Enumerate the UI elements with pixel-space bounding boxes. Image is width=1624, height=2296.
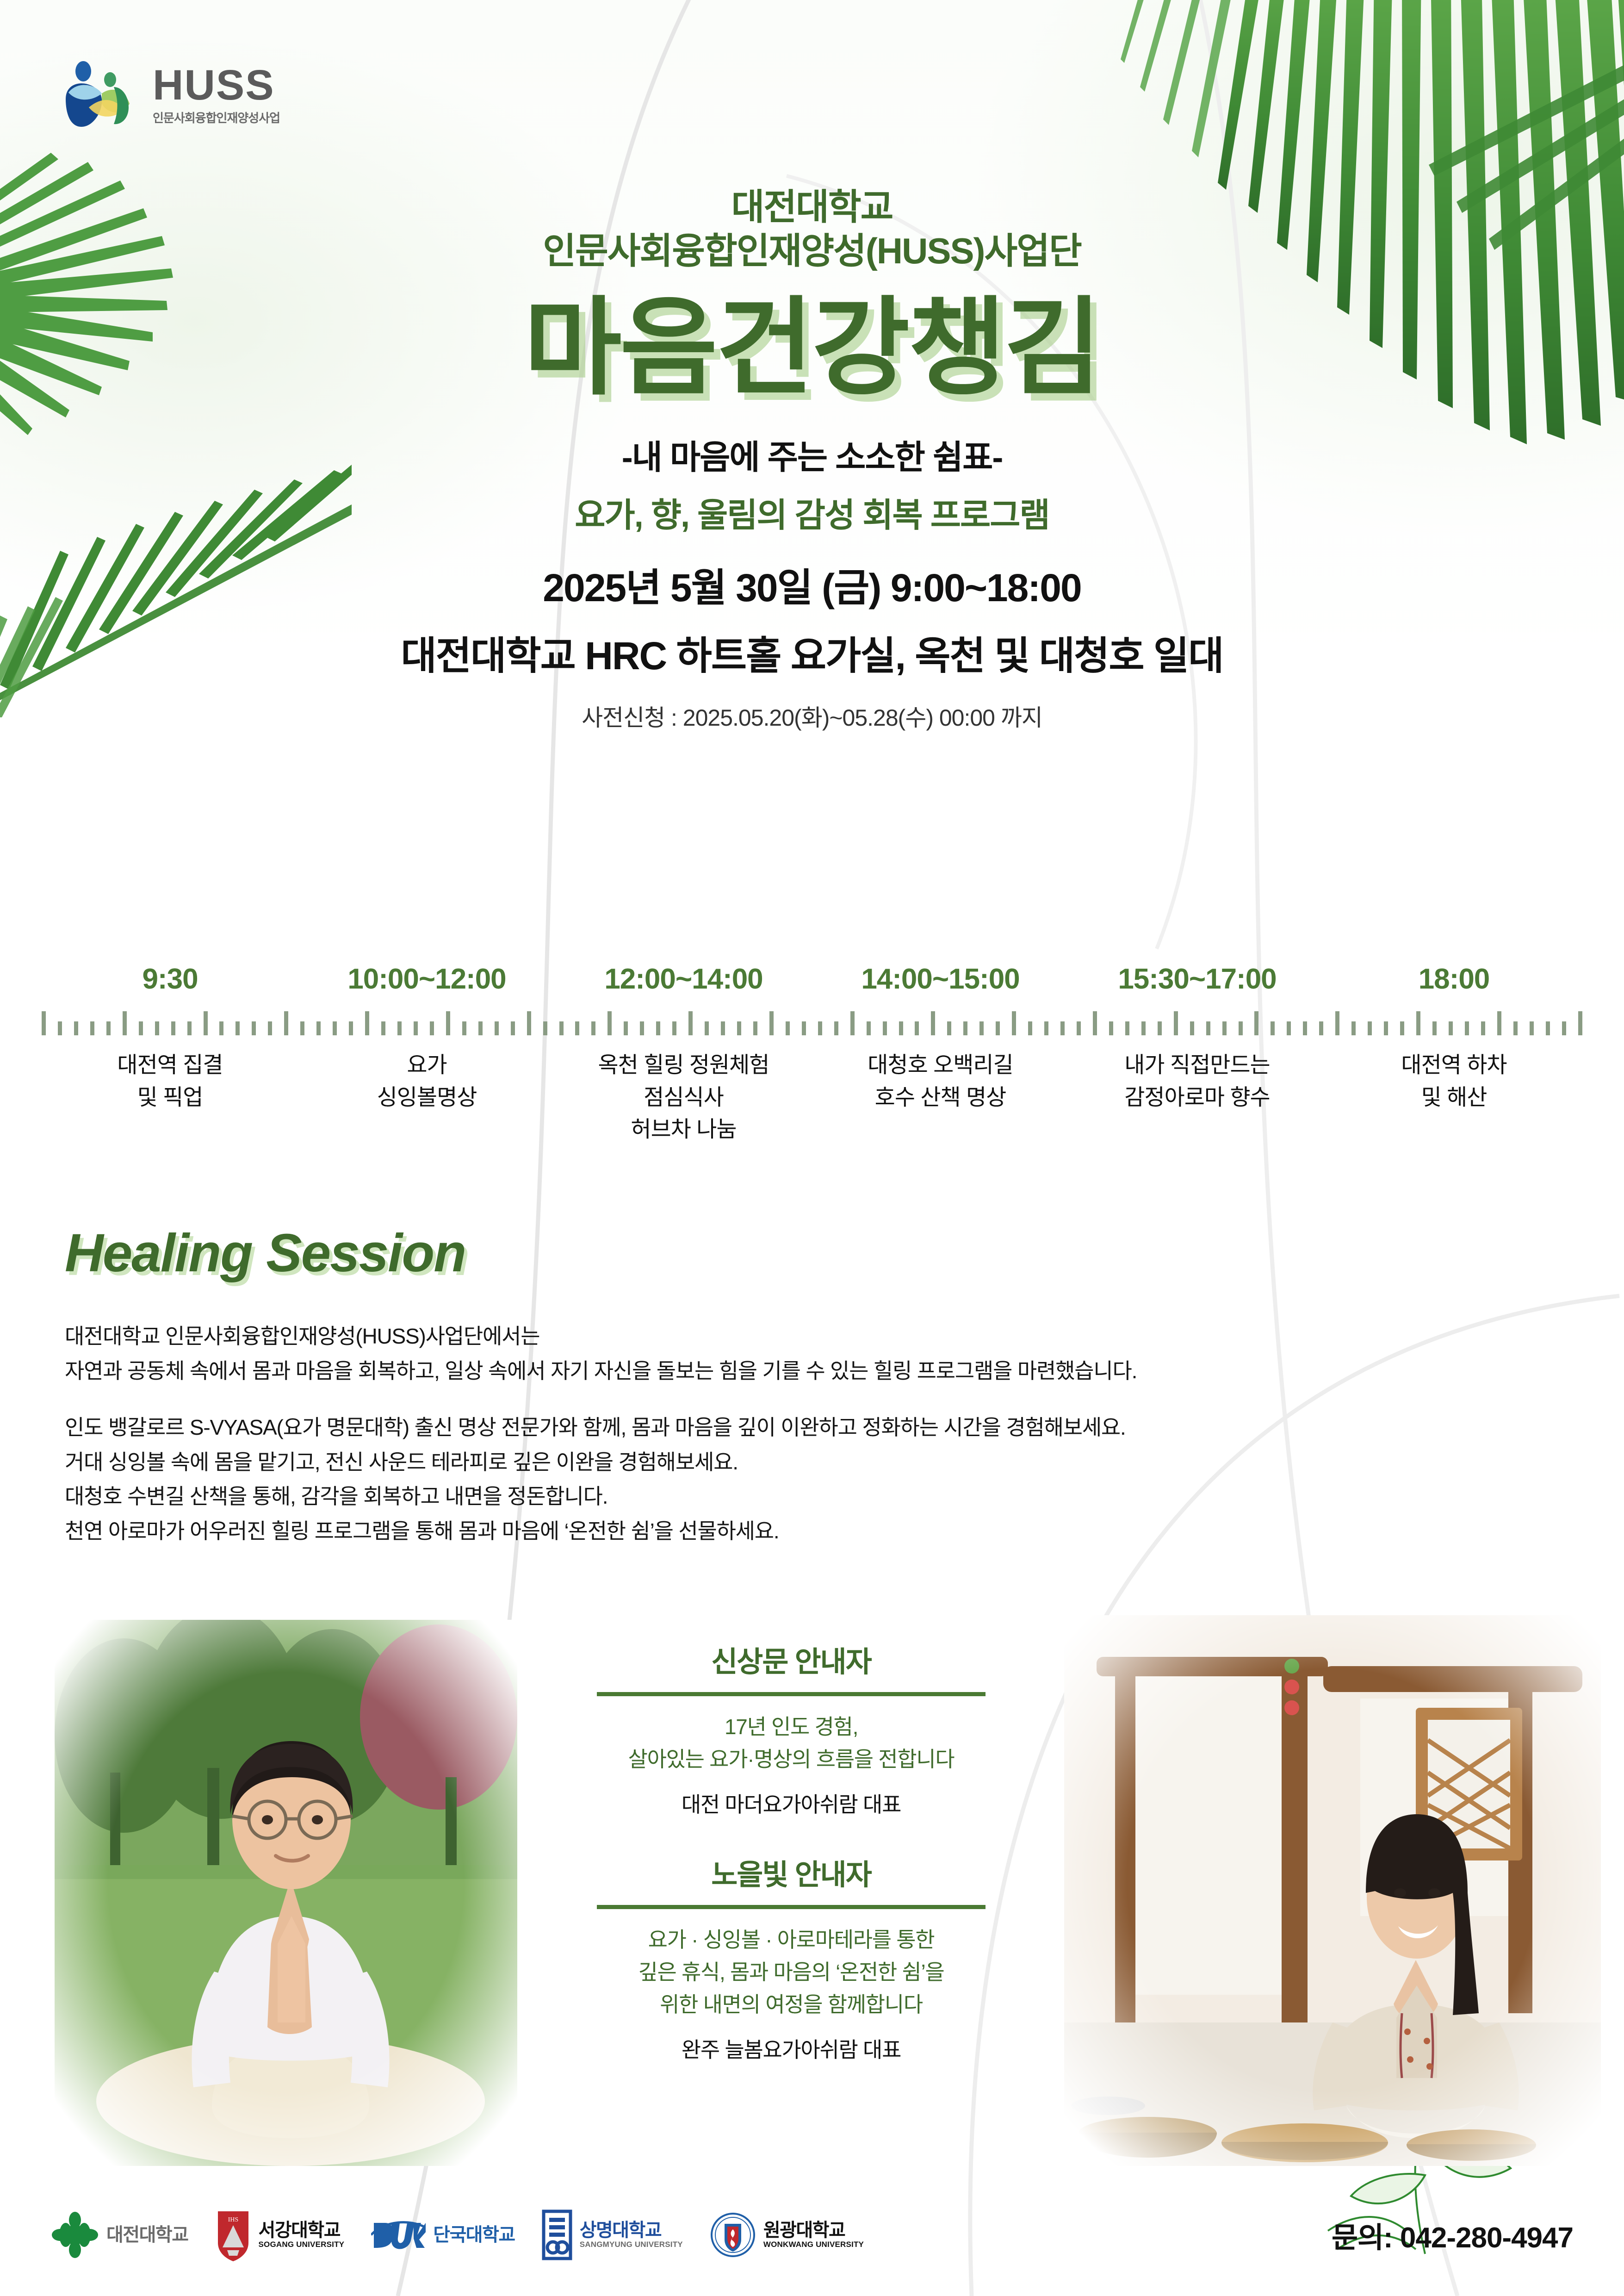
timeline-ruler: [42, 1011, 1582, 1035]
university-name-wonkwang-en: WONKWANG UNIVERSITY: [763, 2240, 864, 2249]
ruler-tick-minor: [1432, 1021, 1437, 1035]
ruler-tick-minor: [1239, 1021, 1243, 1035]
instructor-divider-1: [597, 1692, 986, 1696]
timeline-slot-1: 10:00~12:00: [298, 963, 555, 996]
ruler-tick-minor: [58, 1021, 62, 1035]
timeline-time-2: 12:00~14:00: [555, 963, 812, 996]
ruler-tick-minor: [1351, 1021, 1356, 1035]
ruler-tick-minor: [511, 1021, 515, 1035]
body-para1-line1: 대전대학교 인문사회융합인재양성(HUSS)사업단에서는: [65, 1319, 1568, 1354]
ruler-tick-minor: [74, 1021, 78, 1035]
timeline-slot-2: 12:00~14:00: [555, 963, 812, 996]
ruler-tick-minor: [867, 1021, 871, 1035]
partner-footer: 대전대학교 IHS 서강대학교 SOGANG UNIVERSITY 단국대학교: [51, 2208, 1573, 2262]
ruler-tick-minor: [268, 1021, 272, 1035]
event-datetime: 2025년 5월 30일 (금) 9:00~18:00: [0, 557, 1624, 613]
dankook-university-dku-icon: [371, 2216, 426, 2253]
ruler-tick-minor: [1125, 1021, 1129, 1035]
ruler-tick-minor: [219, 1021, 223, 1035]
ruler-tick-minor: [818, 1021, 822, 1035]
ruler-tick-minor: [1060, 1021, 1065, 1035]
logo-wordmark: HUSS: [153, 65, 280, 106]
ruler-tick-minor: [559, 1021, 564, 1035]
ruler-tick-minor: [947, 1021, 951, 1035]
timeline-activity-cell-3: 대청호 오백리길 호수 산책 명상: [812, 1049, 1069, 1146]
ruler-tick-minor: [721, 1021, 725, 1035]
ruler-tick-major: [1174, 1011, 1178, 1035]
ruler-tick-major: [1254, 1011, 1258, 1035]
timeline-activities-row: 대전역 집결 및 픽업 요가 싱잉볼명상 옥천 힐링 정원체험 점심식사 허브차…: [42, 1049, 1582, 1146]
daejeon-university-emblem-icon: [51, 2211, 99, 2259]
ruler-tick-minor: [1206, 1021, 1210, 1035]
university-name-wonkwang: 원광대학교: [763, 2221, 864, 2240]
ruler-tick-minor: [187, 1021, 192, 1035]
timeline-activity-5: 대전역 하차 및 해산: [1326, 1049, 1582, 1114]
university-name-daejeon: 대전대학교: [106, 2225, 188, 2245]
wonkwang-university-emblem-icon: [710, 2211, 756, 2259]
timeline-activity-3: 대청호 오백리길 호수 산책 명상: [812, 1049, 1069, 1114]
instructor-description-2: 요가 · 싱잉볼 · 아로마테라를 통한 깊은 휴식, 몸과 마음의 ‘온전한 …: [514, 1924, 1069, 2021]
university-logo-sogang: IHS 서강대학교 SOGANG UNIVERSITY: [215, 2208, 345, 2262]
ruler-tick-minor: [737, 1021, 741, 1035]
ruler-tick-minor: [963, 1021, 967, 1035]
ruler-tick-minor: [171, 1021, 175, 1035]
ruler-tick-minor: [1044, 1021, 1048, 1035]
sangmyung-name-group: 상명대학교 SANGMYUNG UNIVERSITY: [580, 2221, 683, 2249]
ruler-tick-minor: [90, 1021, 94, 1035]
ruler-tick-minor: [1513, 1021, 1518, 1035]
ruler-tick-minor: [834, 1021, 838, 1035]
ruler-tick-major: [123, 1011, 127, 1035]
ruler-tick-minor: [349, 1021, 353, 1035]
timeline-activity-4: 내가 직접만드는 감정아로마 향수: [1069, 1049, 1326, 1114]
sogang-university-shield-icon: IHS: [215, 2208, 251, 2262]
body-para2-line2: 거대 싱잉볼 속에 몸을 맡기고, 전신 사운드 테라피로 깊은 이완을 경험해…: [65, 1445, 1568, 1480]
ruler-tick-minor: [1530, 1021, 1534, 1035]
ruler-tick-minor: [1190, 1021, 1194, 1035]
ruler-tick-minor: [543, 1021, 547, 1035]
ruler-tick-minor: [300, 1021, 304, 1035]
timeline-slot-4: 15:30~17:00: [1069, 963, 1326, 996]
ruler-tick-minor: [1028, 1021, 1032, 1035]
ruler-tick-minor: [430, 1021, 434, 1035]
contact-phone: 문의: 042-280-4947: [1332, 2214, 1573, 2256]
ruler-tick-minor: [495, 1021, 499, 1035]
timeline-activity-cell-1: 요가 싱잉볼명상: [298, 1049, 555, 1146]
instructor-divider-2: [597, 1905, 986, 1909]
ruler-tick-minor: [397, 1021, 402, 1035]
timeline-slot-5: 18:00: [1326, 963, 1582, 996]
ruler-tick-minor: [252, 1021, 256, 1035]
logo-subtitle: 인문사회융합인재양성사업: [153, 109, 280, 126]
sangmyung-university-emblem-icon: [542, 2209, 572, 2260]
timeline-activity-cell-0: 대전역 집결 및 픽업: [42, 1049, 298, 1146]
ruler-tick-minor: [236, 1021, 240, 1035]
registration-period: 사전신청 : 2025.05.20(화)~05.28(수) 00:00 까지: [0, 699, 1624, 733]
ruler-tick-major: [1335, 1011, 1339, 1035]
timeline-activity-cell-5: 대전역 하차 및 해산: [1326, 1049, 1582, 1146]
healing-session-heading: Healing Session: [65, 1222, 465, 1284]
ruler-tick-major: [365, 1011, 369, 1035]
timeline-time-5: 18:00: [1326, 963, 1582, 996]
event-timeline: 9:30 10:00~12:00 12:00~14:00 14:00~15:00…: [42, 963, 1582, 1146]
instructor-photo-male-meditating: [55, 1620, 517, 2166]
university-name-sangmyung: 상명대학교: [580, 2221, 683, 2240]
ruler-tick-minor: [462, 1021, 466, 1035]
ruler-tick-minor: [106, 1021, 111, 1035]
timeline-time-0: 9:30: [42, 963, 298, 996]
ruler-tick-minor: [899, 1021, 903, 1035]
instructor-role-2: 완주 늘봄요가아쉬람 대표: [514, 2033, 1069, 2064]
ruler-tick-major: [1012, 1011, 1016, 1035]
svg-text:IHS: IHS: [228, 2216, 238, 2223]
ruler-tick-major: [204, 1011, 208, 1035]
university-logo-daejeon: 대전대학교: [51, 2211, 188, 2259]
ruler-tick-minor: [1271, 1021, 1275, 1035]
ruler-tick-minor: [705, 1021, 709, 1035]
ruler-tick-major: [850, 1011, 855, 1035]
page-title: 마음건강챙김: [0, 291, 1624, 405]
ruler-tick-major: [607, 1011, 612, 1035]
ruler-tick-minor: [883, 1021, 887, 1035]
ruler-tick-minor: [1562, 1021, 1566, 1035]
ruler-tick-major: [688, 1011, 693, 1035]
ruler-tick-major: [769, 1011, 774, 1035]
huss-logo: HUSS 인문사회융합인재양성사업: [59, 59, 280, 131]
ruler-tick-minor: [915, 1021, 919, 1035]
timeline-slot-3: 14:00~15:00: [812, 963, 1069, 996]
university-logo-wonkwang: 원광대학교 WONKWANG UNIVERSITY: [710, 2211, 864, 2259]
poster-header: 대전대학교 인문사회융합인재양성(HUSS)사업단 마음건강챙김 -내 마음에 …: [0, 185, 1624, 733]
ruler-tick-major: [1578, 1011, 1582, 1035]
university-name-sangmyung-en: SANGMYUNG UNIVERSITY: [580, 2240, 683, 2249]
ruler-tick-minor: [1077, 1021, 1081, 1035]
ruler-tick-major: [42, 1011, 46, 1035]
ruler-tick-minor: [1368, 1021, 1372, 1035]
ruler-tick-minor: [478, 1021, 483, 1035]
ruler-tick-major: [931, 1011, 935, 1035]
university-name-sogang: 서강대학교: [259, 2221, 345, 2240]
instructor-block-1: 신상문 안내자 17년 인도 경험, 살아있는 요가·명상의 흐름을 전합니다 …: [514, 1638, 1069, 1818]
ruler-tick-minor: [1400, 1021, 1404, 1035]
ruler-tick-minor: [1481, 1021, 1485, 1035]
tagline-primary: -내 마음에 주는 소소한 쉼표-: [0, 430, 1624, 479]
ruler-tick-minor: [1546, 1021, 1550, 1035]
instructor-name-1: 신상문 안내자: [514, 1638, 1069, 1680]
body-para2-line1: 인도 뱅갈로르 S-VYASA(요가 명문대학) 출신 명상 전문가와 함께, …: [65, 1410, 1568, 1445]
ruler-tick-major: [446, 1011, 450, 1035]
ruler-tick-minor: [333, 1021, 337, 1035]
ruler-tick-major: [527, 1011, 531, 1035]
timeline-activity-cell-4: 내가 직접만드는 감정아로마 향수: [1069, 1049, 1326, 1146]
ruler-tick-minor: [1222, 1021, 1227, 1035]
ruler-tick-minor: [996, 1021, 1000, 1035]
timeline-activity-cell-2: 옥천 힐링 정원체험 점심식사 허브차 나눔: [555, 1049, 812, 1146]
timeline-slot-0: 9:30: [42, 963, 298, 996]
ruler-tick-minor: [802, 1021, 806, 1035]
timeline-times-row: 9:30 10:00~12:00 12:00~14:00 14:00~15:00…: [42, 963, 1582, 996]
instructor-name-2: 노을빛 안내자: [514, 1851, 1069, 1893]
instructor-block-2: 노을빛 안내자 요가 · 싱잉볼 · 아로마테라를 통한 깊은 휴식, 몸과 마…: [514, 1851, 1069, 2064]
ruler-tick-minor: [575, 1021, 579, 1035]
ruler-tick-minor: [381, 1021, 385, 1035]
university-name-dankook: 단국대학교: [433, 2225, 515, 2245]
tagline-secondary: 요가, 향, 울림의 감성 회복 프로그램: [0, 488, 1624, 536]
timeline-time-3: 14:00~15:00: [812, 963, 1069, 996]
ruler-tick-minor: [1287, 1021, 1291, 1035]
ruler-tick-minor: [1141, 1021, 1146, 1035]
instructor-description-1: 17년 인도 경험, 살아있는 요가·명상의 흐름을 전합니다: [514, 1711, 1069, 1776]
timeline-time-4: 15:30~17:00: [1069, 963, 1326, 996]
ruler-tick-minor: [1465, 1021, 1469, 1035]
ruler-tick-minor: [786, 1021, 790, 1035]
ruler-tick-major: [1497, 1011, 1501, 1035]
ruler-tick-minor: [753, 1021, 757, 1035]
ruler-tick-minor: [624, 1021, 628, 1035]
body-para2-line4: 천연 아로마가 어우러진 힐링 프로그램을 통해 몸과 마음에 ‘온전한 쉼’을…: [65, 1514, 1568, 1549]
body-para1-line2: 자연과 공동체 속에서 몸과 마음을 회복하고, 일상 속에서 자기 자신을 돌…: [65, 1354, 1568, 1388]
event-venue: 대전대학교 HRC 하트홀 요가실, 옥천 및 대청호 일대: [0, 625, 1624, 681]
ruler-tick-minor: [1449, 1021, 1453, 1035]
huss-logo-mark: [59, 59, 141, 131]
wonkwang-name-group: 원광대학교 WONKWANG UNIVERSITY: [763, 2221, 864, 2249]
timeline-activity-0: 대전역 집결 및 픽업: [42, 1049, 298, 1114]
university-logo-dankook: 단국대학교: [371, 2216, 515, 2253]
ruler-tick-minor: [1158, 1021, 1162, 1035]
university-name-sogang-en: SOGANG UNIVERSITY: [259, 2240, 345, 2249]
paragraph-spacer: [65, 1388, 1568, 1410]
ruler-tick-minor: [414, 1021, 418, 1035]
ruler-tick-minor: [316, 1021, 321, 1035]
ruler-tick-minor: [155, 1021, 159, 1035]
timeline-activity-1: 요가 싱잉볼명상: [298, 1049, 555, 1114]
instructor-role-1: 대전 마더요가아쉬람 대표: [514, 1788, 1069, 1818]
ruler-tick-minor: [656, 1021, 660, 1035]
ruler-tick-minor: [640, 1021, 644, 1035]
ruler-tick-minor: [1109, 1021, 1113, 1035]
sogang-name-group: 서강대학교 SOGANG UNIVERSITY: [259, 2221, 345, 2249]
ruler-tick-minor: [672, 1021, 676, 1035]
organization-line-2: 인문사회융합인재양성(HUSS)사업단: [0, 229, 1624, 273]
ruler-tick-minor: [591, 1021, 595, 1035]
healing-session-body: 대전대학교 인문사회융합인재양성(HUSS)사업단에서는 자연과 공동체 속에서…: [65, 1319, 1568, 1548]
body-para2-line3: 대청호 수변길 산책을 통해, 감각을 회복하고 내면을 정돈합니다.: [65, 1479, 1568, 1514]
ruler-tick-major: [284, 1011, 288, 1035]
instructor-photo-female-singing-bowls: [1064, 1615, 1601, 2166]
ruler-tick-minor: [1384, 1021, 1388, 1035]
organization-line-1: 대전대학교: [0, 185, 1624, 229]
ruler-tick-major: [1093, 1011, 1097, 1035]
timeline-activity-2: 옥천 힐링 정원체험 점심식사 허브차 나눔: [555, 1049, 812, 1146]
timeline-time-1: 10:00~12:00: [298, 963, 555, 996]
ruler-tick-minor: [139, 1021, 143, 1035]
university-logo-sangmyung: 상명대학교 SANGMYUNG UNIVERSITY: [542, 2209, 683, 2260]
ruler-tick-minor: [1303, 1021, 1307, 1035]
ruler-tick-minor: [1319, 1021, 1323, 1035]
ruler-tick-major: [1416, 1011, 1420, 1035]
ruler-tick-minor: [979, 1021, 984, 1035]
